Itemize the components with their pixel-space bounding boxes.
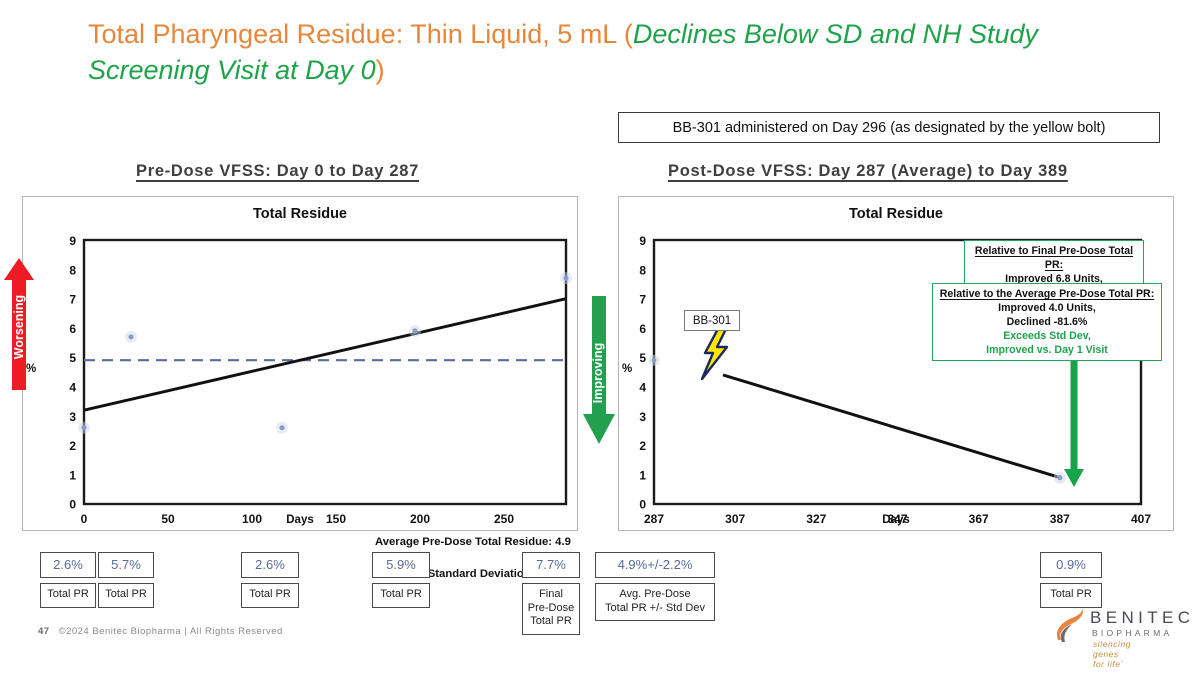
panel-header-pre-dose: Pre-Dose VFSS: Day 0 to Day 287 xyxy=(136,162,419,181)
annotation-box-average-predose: Relative to the Average Pre-Dose Total P… xyxy=(932,283,1162,361)
benitec-logo: BENITEC BIOPHARMA silencing genes for li… xyxy=(1052,606,1088,651)
page-number: 47 xyxy=(38,626,50,637)
svg-text:3: 3 xyxy=(639,410,646,424)
svg-text:0: 0 xyxy=(639,498,646,512)
svg-text:7: 7 xyxy=(69,293,76,307)
chip-group: 0.9% Total PR xyxy=(1040,552,1102,608)
svg-text:8: 8 xyxy=(69,263,76,277)
chip-value: 7.7% xyxy=(522,552,580,578)
bb301-label: BB-301 xyxy=(693,315,731,327)
annotation-line-highlight: Improved vs. Day 1 Visit xyxy=(939,343,1155,357)
chip-caption: Total PR xyxy=(40,583,96,608)
chip-group: 7.7% Final Pre-Dose Total PR xyxy=(522,552,580,635)
chip-group: 2.6% Total PR xyxy=(241,552,299,608)
benitec-swoosh-icon xyxy=(1052,606,1088,646)
x-axis-label-post: Days xyxy=(619,514,1173,526)
panel-header-post-dose: Post-Dose VFSS: Day 287 (Average) to Day… xyxy=(668,162,1068,181)
chip-value: 4.9%+/-2.2% xyxy=(595,552,715,578)
svg-text:1: 1 xyxy=(69,468,76,482)
svg-text:4: 4 xyxy=(639,381,646,395)
page-title-main: Total Pharyngeal Residue: Thin Liquid, 5… xyxy=(88,19,624,49)
svg-text:8: 8 xyxy=(639,263,646,277)
chip-group: 5.7% Total PR xyxy=(98,552,154,608)
annotation-heading: Relative to Final Pre-Dose Total PR: xyxy=(971,244,1137,272)
svg-text:2: 2 xyxy=(69,439,76,453)
logo-name: BENITEC xyxy=(1090,608,1194,628)
logo-subtitle: BIOPHARMA xyxy=(1092,628,1172,638)
svg-text:1: 1 xyxy=(639,468,646,482)
svg-text:7: 7 xyxy=(639,293,646,307)
plot-area-pre: 9 8 7 6 5 4 3 2 1 0 0 50 100 150 200 250 xyxy=(23,197,579,532)
annotation-line: Declined -81.6% xyxy=(939,315,1155,329)
footer: 47©2024 Benitec Biopharma | All Rights R… xyxy=(38,626,283,637)
chip-group: 2.6% Total PR xyxy=(40,552,96,608)
chip-value: 2.6% xyxy=(241,552,299,578)
svg-text:2: 2 xyxy=(639,439,646,453)
chip-caption: Total PR xyxy=(372,583,430,608)
lightning-bolt-icon xyxy=(702,327,727,379)
chip-value: 5.9% xyxy=(372,552,430,578)
chip-caption: Total PR xyxy=(241,583,299,608)
chip-value: 0.9% xyxy=(1040,552,1102,578)
logo-tagline: silencing genes for life´ xyxy=(1093,639,1131,669)
svg-text:6: 6 xyxy=(639,322,646,336)
worsening-arrow: Worsening xyxy=(4,258,34,395)
svg-text:4: 4 xyxy=(69,381,76,395)
chip-value: 2.6% xyxy=(40,552,96,578)
y-axis-label-post: % xyxy=(622,363,632,375)
svg-text:5: 5 xyxy=(69,351,76,365)
svg-text:9: 9 xyxy=(639,234,646,248)
chip-value: 5.7% xyxy=(98,552,154,578)
page-title: Total Pharyngeal Residue: Thin Liquid, 5… xyxy=(88,16,1148,88)
chip-caption: Total PR xyxy=(1040,583,1102,608)
x-axis-label-pre: Days xyxy=(23,514,577,526)
worsening-label: Worsening xyxy=(12,291,26,363)
annotation-heading: Relative to the Average Pre-Dose Total P… xyxy=(939,287,1155,301)
bb301-dose-callout: BB-301 xyxy=(684,310,740,331)
page-title-paren-close: ) xyxy=(376,55,385,85)
chip-caption: Final Pre-Dose Total PR xyxy=(522,583,580,635)
annotation-line-highlight: Exceeds Std Dev, xyxy=(939,329,1155,343)
annotation-average-residue: Average Pre-Dose Total Residue: 4.9 xyxy=(375,536,571,548)
dose-note-banner: BB-301 administered on Day 296 (as desig… xyxy=(618,112,1160,143)
chip-group: 5.9% Total PR xyxy=(372,552,430,608)
improving-arrow: Improving xyxy=(583,296,615,449)
page-title-paren-open: ( xyxy=(624,19,633,49)
chip-caption: Avg. Pre-Dose Total PR +/- Std Dev xyxy=(595,583,715,621)
improvement-arrow-icon xyxy=(1064,357,1084,487)
svg-text:9: 9 xyxy=(69,234,76,248)
improving-label: Improving xyxy=(591,335,605,411)
svg-text:3: 3 xyxy=(69,410,76,424)
svg-text:0: 0 xyxy=(69,498,76,512)
chart-pre-dose: Total Residue 9 8 7 6 5 4 3 2 1 0 0 50 1… xyxy=(22,196,578,531)
chip-caption: Total PR xyxy=(98,583,154,608)
copyright-text: ©2024 Benitec Biopharma | All Rights Res… xyxy=(59,626,283,637)
annotation-line: Improved 4.0 Units, xyxy=(939,301,1155,315)
svg-text:6: 6 xyxy=(69,322,76,336)
svg-text:5: 5 xyxy=(639,351,646,365)
chip-group: 4.9%+/-2.2% Avg. Pre-Dose Total PR +/- S… xyxy=(595,552,715,621)
dose-note-text: BB-301 administered on Day 296 (as desig… xyxy=(673,120,1106,136)
